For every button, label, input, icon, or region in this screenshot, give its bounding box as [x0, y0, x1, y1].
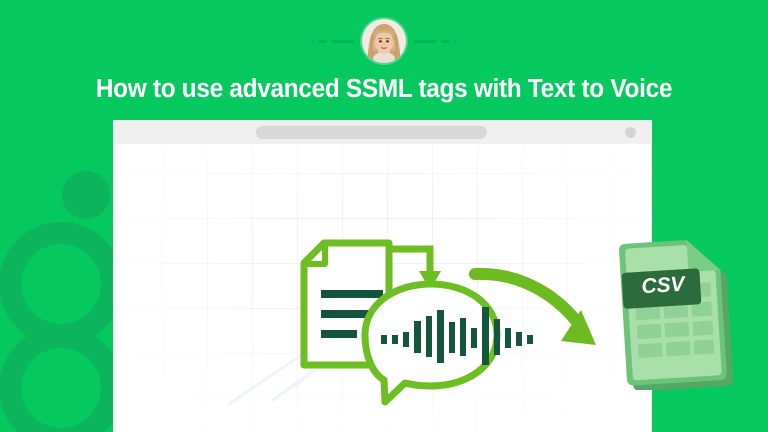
csv-badge: [621, 268, 701, 309]
decor-dot-small: [62, 171, 110, 219]
slide-canvas: How to use advanced SSML tags with Text …: [0, 0, 768, 432]
toolbar-menu-button[interactable]: [625, 127, 636, 138]
dash-segment: [311, 40, 314, 43]
browser-window: [113, 120, 652, 432]
address-bar[interactable]: [255, 126, 486, 139]
dash-segment: [454, 40, 457, 43]
divider-dashes-left: [266, 39, 362, 43]
browser-toolbar: [113, 120, 652, 144]
csv-file-fold: [687, 238, 721, 272]
author-row: [0, 19, 768, 63]
decor-ring-upper: [0, 222, 123, 346]
dash-segment: [332, 40, 354, 43]
decor-ring-lower: [0, 326, 123, 432]
browser-content: [113, 144, 652, 432]
text-to-speech-to-csv-illustration: [113, 144, 652, 432]
csv-file-icon: CSV: [608, 238, 736, 390]
divider-dashes-right: [406, 39, 502, 43]
dash-segment: [319, 40, 327, 43]
header: How to use advanced SSML tags with Text …: [0, 0, 768, 120]
author-avatar: [362, 19, 406, 63]
return-arrow-icon: [396, 249, 430, 274]
dash-segment: [441, 40, 449, 43]
page-title: How to use advanced SSML tags with Text …: [17, 74, 750, 104]
dash-segment: [414, 40, 436, 43]
